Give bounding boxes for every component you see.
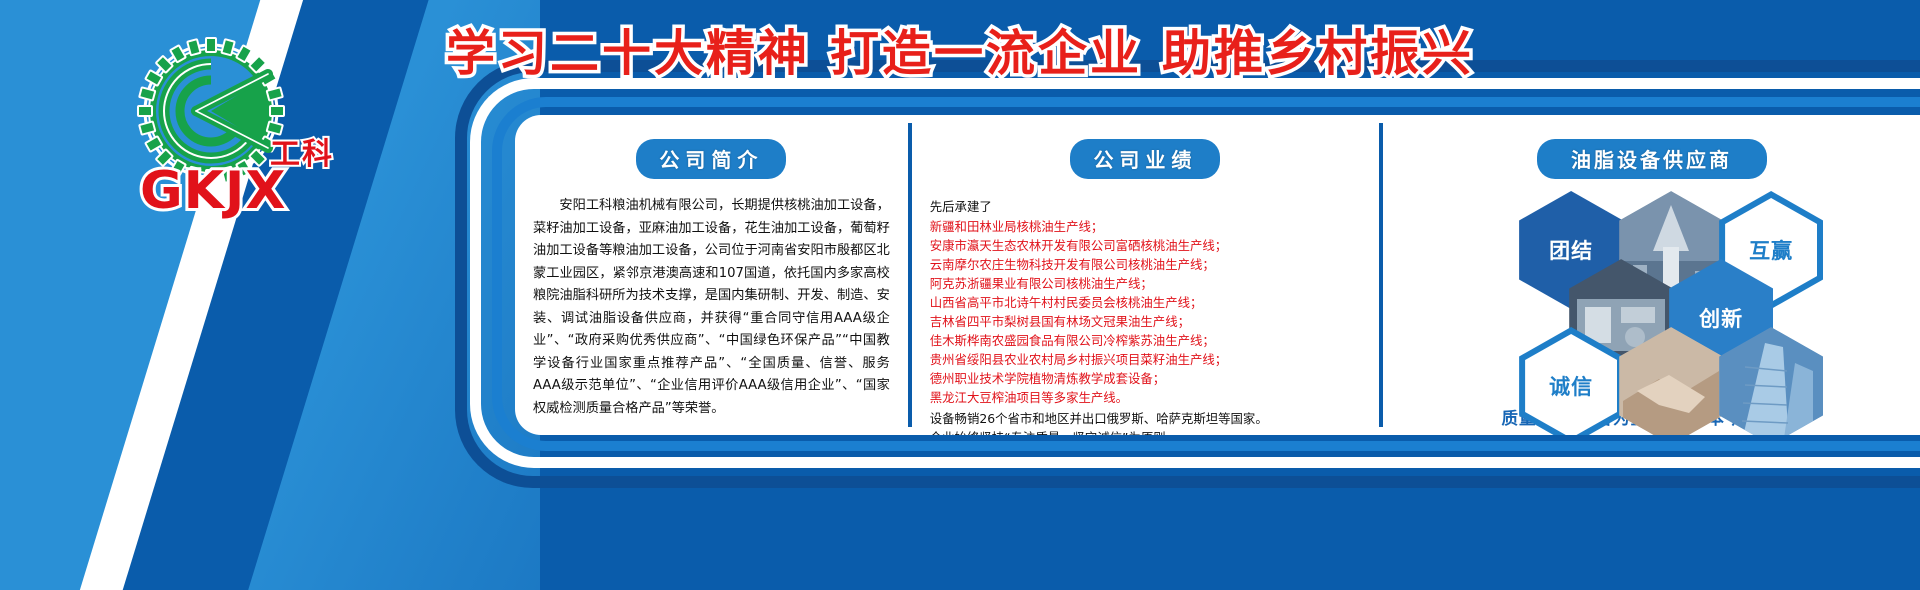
panel-performance-title: 公司业绩 bbox=[1070, 139, 1220, 179]
logo-latin-name: GKJX bbox=[140, 161, 286, 221]
panel-company-intro: 公司简介 安阳工科粮油机械有限公司，长期提供核桃油加工设备，菜籽油加工设备，亚麻… bbox=[515, 115, 908, 435]
page-title: 学习二十大精神 打造一流企业 助推乡村振兴 bbox=[430, 22, 1490, 86]
performance-list-item: 新疆和田林业局核桃油生产线； bbox=[930, 217, 1361, 236]
panel-intro-body: 安阳工科粮油机械有限公司，长期提供核桃油加工设备，菜籽油加工设备，亚麻油加工设备… bbox=[533, 195, 890, 420]
performance-list-item: 安康市瀛天生态农林开发有限公司富硒核桃油生产线； bbox=[930, 236, 1361, 255]
performance-list-item: 吉林省四平市梨树县国有林场文冠果油生产线； bbox=[930, 312, 1361, 331]
performance-list-item: 德州职业技术学院植物清炼教学成套设备； bbox=[930, 369, 1361, 388]
company-logo: 工科 GKJX bbox=[118, 36, 348, 226]
hex-label: 团结 bbox=[1549, 235, 1593, 265]
hexagon-cluster: 团结 互赢 bbox=[1401, 189, 1902, 399]
poster-canvas: 工科 GKJX 学习二十大精神 打造一流企业 助推乡村振兴 公司简介 安阳工科粮… bbox=[0, 0, 1920, 590]
performance-tail-text: 设备畅销26个省市和地区并出口俄罗斯、哈萨克斯坦等国家。企业始终坚持“专注质量，… bbox=[930, 409, 1361, 435]
hex-label: 互赢 bbox=[1749, 235, 1793, 265]
hex-label: 创新 bbox=[1699, 303, 1743, 333]
panel-supplier: 油脂设备供应商 团结 bbox=[1383, 115, 1920, 435]
panel-supplier-title: 油脂设备供应商 bbox=[1537, 139, 1767, 179]
panel-intro-title: 公司简介 bbox=[636, 139, 786, 179]
performance-list-item: 山西省高平市北诗午村村民委员会核桃油生产线； bbox=[930, 293, 1361, 312]
content-plate: 公司简介 安阳工科粮油机械有限公司，长期提供核桃油加工设备，菜籽油加工设备，亚麻… bbox=[515, 115, 1920, 435]
performance-list-item: 云南摩尔农庄生物科技开发有限公司核桃油生产线； bbox=[930, 255, 1361, 274]
panel-performance-lead: 先后承建了 bbox=[930, 197, 1361, 216]
performance-list-item: 阿克苏浙疆果业有限公司核桃油生产线； bbox=[930, 274, 1361, 293]
performance-tail-line: 设备畅销26个省市和地区并出口俄罗斯、哈萨克斯坦等国家。 bbox=[930, 409, 1361, 428]
performance-list-item: 佳木斯桦南农盛园食品有限公司冷榨紫苏油生产线； bbox=[930, 331, 1361, 350]
panel-company-performance: 公司业绩 先后承建了 新疆和田林业局核桃油生产线；安康市瀛天生态农林开发有限公司… bbox=[912, 115, 1379, 435]
hex-label: 诚信 bbox=[1549, 371, 1593, 401]
performance-list-item: 黑龙江大豆榨油项目等多家生产线。 bbox=[930, 388, 1361, 407]
performance-list-item: 贵州省绥阳县农业农村局乡村振兴项目菜籽油生产线； bbox=[930, 350, 1361, 369]
performance-tail-line: 企业始终坚持“专注质量，坚守诚信”为原则。 bbox=[930, 428, 1361, 435]
performance-project-list: 新疆和田林业局核桃油生产线；安康市瀛天生态农林开发有限公司富硒核桃油生产线；云南… bbox=[930, 217, 1361, 407]
